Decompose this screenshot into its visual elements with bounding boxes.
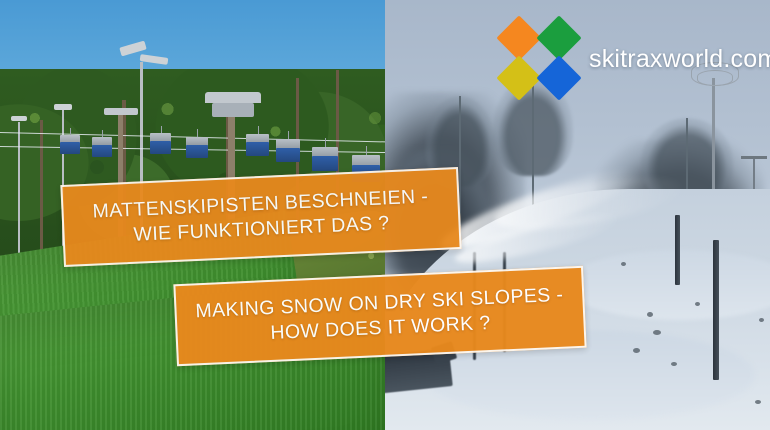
snow-debris bbox=[633, 348, 640, 353]
image-canvas: skitraxworld.com MATTENSKIPISTEN BESCHNE… bbox=[0, 0, 770, 430]
snow-debris bbox=[759, 318, 764, 322]
snow-debris bbox=[647, 312, 653, 317]
chairlift-chair bbox=[92, 130, 112, 157]
pylon-sheave-train bbox=[212, 103, 254, 117]
four-diamonds-logo-icon bbox=[503, 22, 577, 96]
chairlift-chair bbox=[60, 128, 80, 154]
pylon-crosshead bbox=[104, 108, 138, 115]
site-logo[interactable]: skitraxworld.com bbox=[503, 22, 770, 96]
lamp-mast bbox=[18, 122, 20, 272]
pylon-crosshead bbox=[205, 92, 261, 103]
snow-debris bbox=[671, 362, 677, 366]
diamond-orange-icon bbox=[496, 15, 541, 60]
lamp-head-icon bbox=[54, 104, 72, 110]
snow-debris bbox=[653, 330, 661, 335]
slope-pole bbox=[713, 240, 719, 380]
brand-name: skitraxworld.com bbox=[589, 45, 770, 74]
lamp-head-icon bbox=[11, 116, 27, 121]
diamond-yellow-icon bbox=[496, 55, 541, 100]
distant-lift-crosshead bbox=[741, 156, 767, 159]
slope-pole bbox=[675, 215, 680, 285]
chairlift-chair bbox=[186, 129, 208, 158]
chairlift-chair bbox=[312, 138, 338, 171]
snow-debris bbox=[621, 262, 626, 266]
diamond-blue-icon bbox=[536, 55, 581, 100]
snow-debris bbox=[695, 302, 700, 306]
snow-debris bbox=[755, 400, 761, 404]
diamond-green-icon bbox=[536, 15, 581, 60]
tree-trunk bbox=[40, 120, 43, 270]
chairlift-chair bbox=[246, 126, 269, 156]
chairlift-chair bbox=[276, 131, 300, 162]
chairlift-chair bbox=[150, 126, 171, 154]
